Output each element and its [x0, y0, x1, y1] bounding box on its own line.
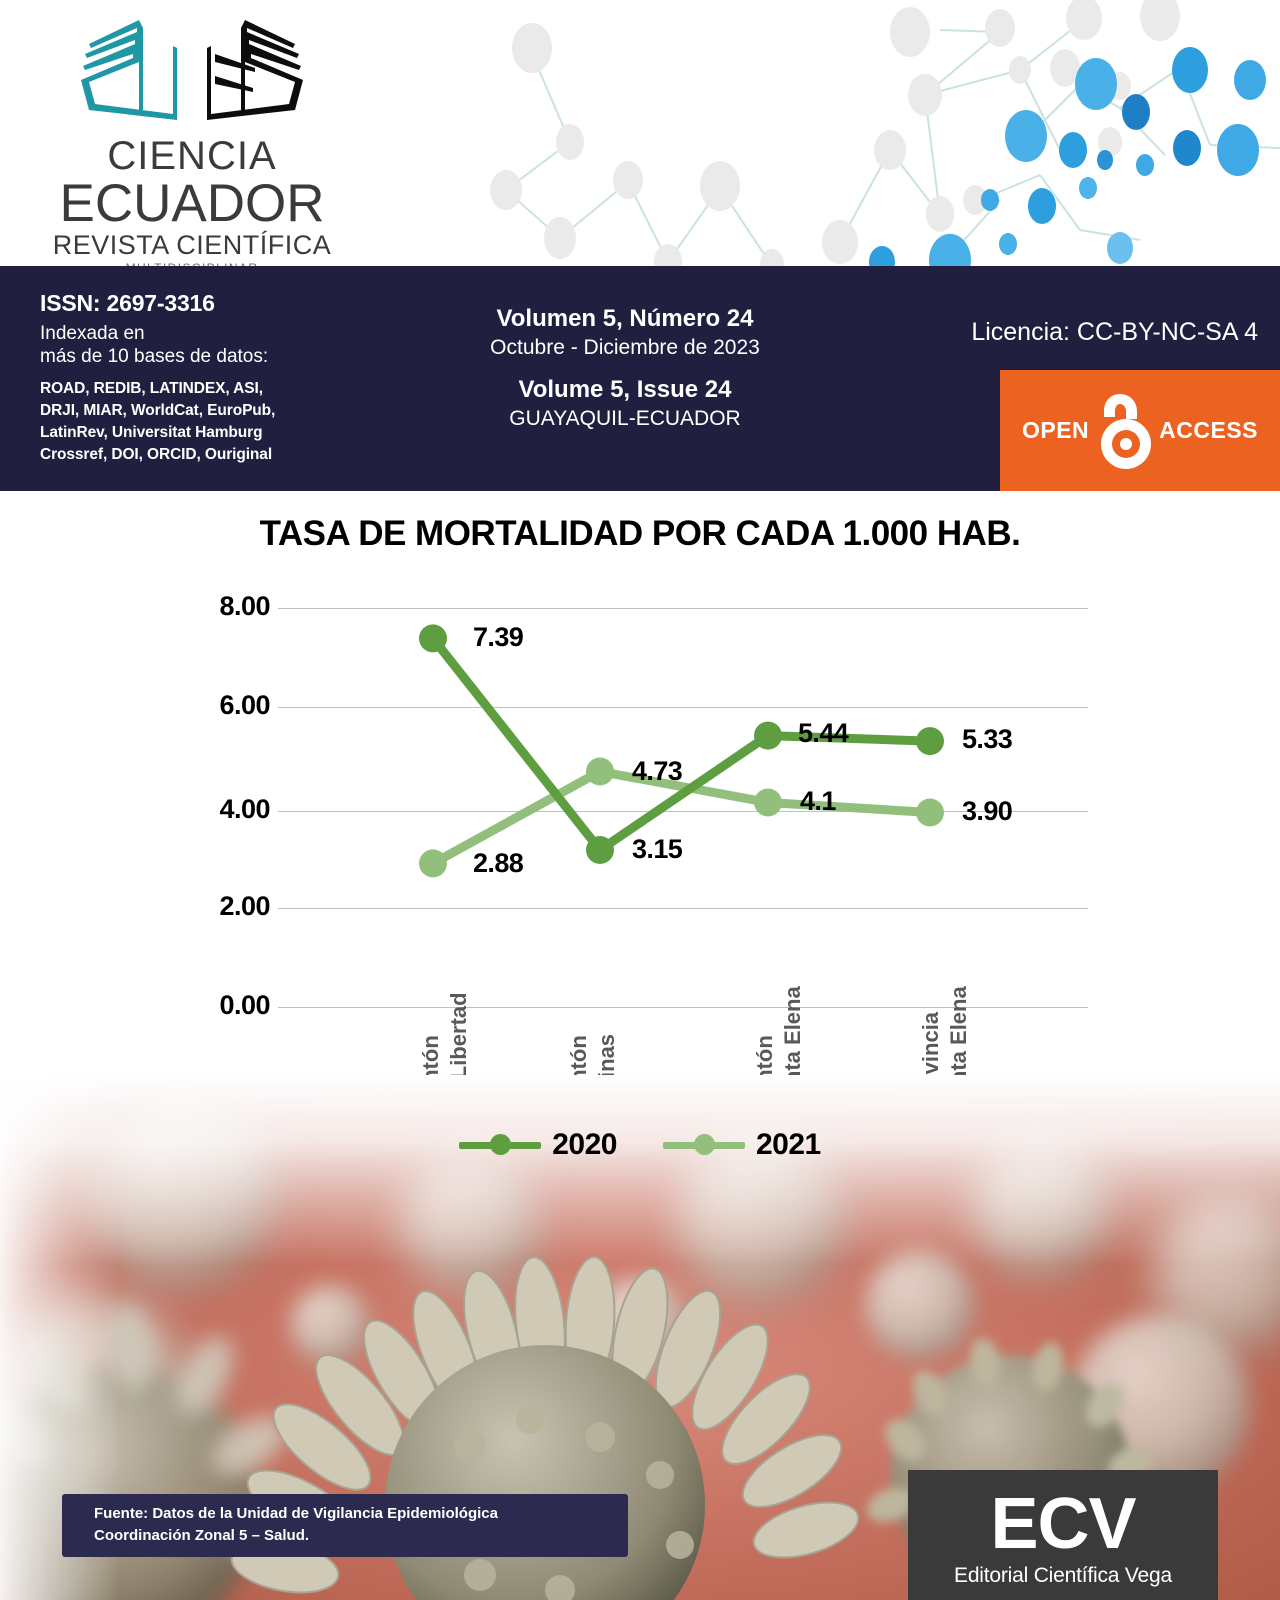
publisher-name: Editorial Científica Vega	[908, 1564, 1218, 1588]
chart-container: TASA DE MORTALIDAD POR CADA 1.000 HAB. 8…	[0, 491, 1280, 1091]
date-range-es: Octubre - Diciembre de 2023	[400, 334, 850, 361]
publisher-logo: ECV Editorial Científica Vega	[908, 1470, 1218, 1600]
logo-text-multidisciplinar: MULTIDISCIPLINAR	[42, 262, 342, 266]
logo-text-ecuador: ECUADOR	[42, 177, 342, 230]
chart-series-lines	[0, 491, 1280, 1091]
journal-cover-page: CIENCIA ECUADOR REVISTA CIENTÍFICA MULTI…	[0, 0, 1280, 1600]
license-label: Licencia: CC-BY-NC-SA 4	[971, 318, 1258, 347]
journal-logo: CIENCIA ECUADOR REVISTA CIENTÍFICA MULTI…	[42, 14, 342, 266]
open-access-badge[interactable]: OPEN ACCESS	[1000, 370, 1280, 491]
legend-label-2020: 2020	[552, 1128, 617, 1162]
data-label-2021-2: 4.1	[800, 786, 836, 817]
data-label-2021-1: 4.73	[632, 756, 682, 787]
source-caption: Fuente: Datos de la Unidad de Vigilancia…	[62, 1494, 628, 1557]
open-access-label-left: OPEN	[1022, 417, 1089, 444]
chart-legend: 2020 2021	[0, 1128, 1280, 1162]
volume-es: Volumen 5, Número 24	[400, 304, 850, 334]
logo-text-revista: REVISTA CIENTÍFICA	[42, 232, 342, 259]
data-label-2021-0: 2.88	[473, 848, 523, 879]
chart-plot-area: 8.00 6.00 4.00 2.00 0.00	[0, 491, 1280, 1091]
database-line: ROAD, REDIB, LATINDEX, ASI,	[40, 378, 380, 400]
issn-number: ISSN: 2697-3316	[40, 290, 380, 318]
legend-item-2021[interactable]: 2021	[663, 1128, 821, 1162]
volume-column: Volumen 5, Número 24 Octubre - Diciembre…	[400, 304, 850, 433]
indexed-line-1: Indexada en	[40, 322, 380, 345]
legend-item-2020[interactable]: 2020	[459, 1128, 617, 1162]
data-label-2020-0: 7.39	[473, 622, 523, 653]
city-label: GUAYAQUIL-ECUADOR	[400, 405, 850, 432]
cover-header: CIENCIA ECUADOR REVISTA CIENTÍFICA MULTI…	[0, 0, 1280, 266]
data-label-2020-3: 5.33	[962, 724, 1012, 755]
data-label-2020-2: 5.44	[798, 718, 848, 749]
publisher-abbr: ECV	[908, 1470, 1218, 1560]
logo-text-ciencia: CIENCIA	[42, 136, 342, 176]
source-line-1: Fuente: Datos de la Unidad de Vigilancia…	[94, 1503, 614, 1525]
legend-swatch-2021	[663, 1134, 745, 1156]
network-graphic	[420, 0, 1280, 266]
volume-en: Volume 5, Issue 24	[400, 375, 850, 405]
open-access-label-right: ACCESS	[1159, 417, 1258, 444]
open-book-icon	[77, 14, 307, 132]
indexed-line-2: más de 10 bases de datos:	[40, 345, 380, 368]
issn-column: ISSN: 2697-3316 Indexada en más de 10 ba…	[40, 290, 380, 466]
source-line-2: Coordinación Zonal 5 – Salud.	[94, 1525, 614, 1547]
database-line: DRJI, MIAR, WorldCat, EuroPub,	[40, 400, 380, 422]
database-line: LatinRev, Universitat Hamburg	[40, 422, 380, 444]
database-list: ROAD, REDIB, LATINDEX, ASI, DRJI, MIAR, …	[40, 378, 380, 466]
data-label-2020-1: 3.15	[632, 834, 682, 865]
database-line: Crossref, DOI, ORCID, Ouriginal	[40, 444, 380, 466]
legend-swatch-2020	[459, 1134, 541, 1156]
data-label-2021-3: 3.90	[962, 796, 1012, 827]
open-padlock-icon	[1093, 389, 1155, 473]
legend-label-2021: 2021	[756, 1128, 821, 1162]
